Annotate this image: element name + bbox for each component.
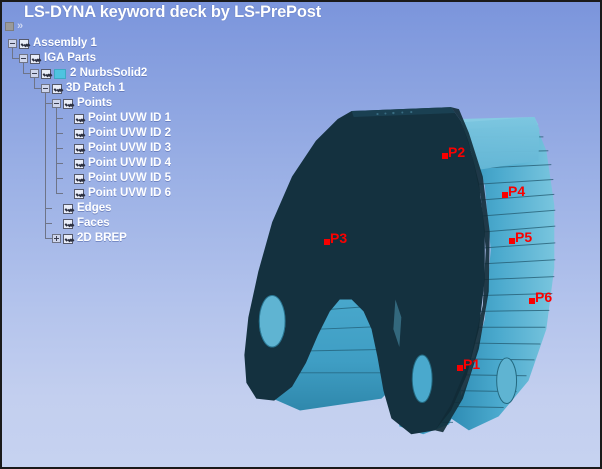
tree-item[interactable]: Point UVW ID 1 bbox=[4, 111, 214, 126]
tree-item-label: Point UVW ID 4 bbox=[88, 157, 171, 170]
tree-item-label: 3D Patch 1 bbox=[66, 82, 125, 95]
tree-connector-line bbox=[56, 163, 63, 164]
visibility-checkbox[interactable] bbox=[19, 39, 29, 49]
visibility-checkbox[interactable] bbox=[74, 189, 84, 199]
tree-item[interactable]: Point UVW ID 6 bbox=[4, 186, 214, 201]
tree-item[interactable]: Faces bbox=[4, 216, 214, 231]
tree-item[interactable]: 2D BREP bbox=[4, 231, 214, 246]
visibility-checkbox[interactable] bbox=[74, 159, 84, 169]
tree-item-label: Edges bbox=[77, 202, 112, 215]
tree-item[interactable]: IGA Parts bbox=[4, 51, 214, 66]
tree-connector-line bbox=[56, 133, 63, 134]
window-title: LS-DYNA keyword deck by LS-PrePost bbox=[24, 3, 321, 22]
tree-connector-line bbox=[45, 238, 52, 239]
tree-item[interactable]: Assembly 1 bbox=[4, 36, 214, 51]
tree-item-label: Points bbox=[77, 97, 112, 110]
tree-item-label: Point UVW ID 1 bbox=[88, 112, 171, 125]
tree-item-label: 2D BREP bbox=[77, 232, 127, 245]
collapse-minus-icon[interactable] bbox=[41, 84, 50, 93]
tree-item[interactable]: 2 NurbsSolid2 bbox=[4, 66, 214, 81]
chevron-double-right-icon[interactable]: » bbox=[17, 22, 23, 31]
visibility-checkbox[interactable] bbox=[52, 84, 62, 94]
visibility-checkbox[interactable] bbox=[74, 144, 84, 154]
tree-item-label: Point UVW ID 2 bbox=[88, 127, 171, 140]
tree-item[interactable]: Point UVW ID 4 bbox=[4, 156, 214, 171]
tree-item-label: IGA Parts bbox=[44, 52, 96, 65]
tree-connector-line bbox=[56, 193, 63, 194]
tree-item-label: Faces bbox=[77, 217, 110, 230]
tree-connector-line bbox=[45, 93, 46, 239]
part-color-swatch[interactable] bbox=[54, 69, 66, 79]
expand-plus-icon[interactable] bbox=[52, 234, 61, 243]
visibility-checkbox[interactable] bbox=[63, 204, 73, 214]
tree-connector-line bbox=[56, 118, 63, 119]
visibility-checkbox[interactable] bbox=[74, 114, 84, 124]
grip-square-icon[interactable] bbox=[5, 22, 14, 31]
ls-prepost-window: P1 P2 P3 P4 P5 P6 LS-DYNA keyword deck b… bbox=[0, 0, 602, 469]
tree-item[interactable]: Point UVW ID 2 bbox=[4, 126, 214, 141]
tree-connector-line bbox=[56, 108, 57, 194]
collapse-minus-icon[interactable] bbox=[8, 39, 17, 48]
tree-connector-line bbox=[45, 208, 52, 209]
tree-item[interactable]: Points bbox=[4, 96, 214, 111]
collapse-minus-icon[interactable] bbox=[52, 99, 61, 108]
tree-item-label: Point UVW ID 5 bbox=[88, 172, 171, 185]
tree-item-label: Assembly 1 bbox=[33, 37, 97, 50]
model-tree[interactable]: Assembly 1IGA Parts2 NurbsSolid23D Patch… bbox=[4, 36, 214, 246]
visibility-checkbox[interactable] bbox=[63, 234, 73, 244]
tree-item-label: Point UVW ID 3 bbox=[88, 142, 171, 155]
tree-item[interactable]: Edges bbox=[4, 201, 214, 216]
tree-connector-line bbox=[56, 148, 63, 149]
tree-connector-line bbox=[12, 58, 19, 59]
visibility-checkbox[interactable] bbox=[74, 129, 84, 139]
visibility-checkbox[interactable] bbox=[41, 69, 51, 79]
collapse-minus-icon[interactable] bbox=[19, 54, 28, 63]
tree-item[interactable]: Point UVW ID 3 bbox=[4, 141, 214, 156]
tree-item[interactable]: Point UVW ID 5 bbox=[4, 171, 214, 186]
tree-connector-line bbox=[23, 73, 30, 74]
tree-connector-line bbox=[56, 178, 63, 179]
visibility-checkbox[interactable] bbox=[63, 219, 73, 229]
toolbar-handle[interactable]: » bbox=[5, 22, 23, 31]
tree-item-label: 2 NurbsSolid2 bbox=[70, 67, 147, 80]
visibility-checkbox[interactable] bbox=[30, 54, 40, 64]
tree-item-label: Point UVW ID 6 bbox=[88, 187, 171, 200]
collapse-minus-icon[interactable] bbox=[30, 69, 39, 78]
visibility-checkbox[interactable] bbox=[74, 174, 84, 184]
tree-connector-line bbox=[45, 223, 52, 224]
visibility-checkbox[interactable] bbox=[63, 99, 73, 109]
tree-connector-line bbox=[34, 88, 41, 89]
tree-connector-line bbox=[45, 103, 52, 104]
